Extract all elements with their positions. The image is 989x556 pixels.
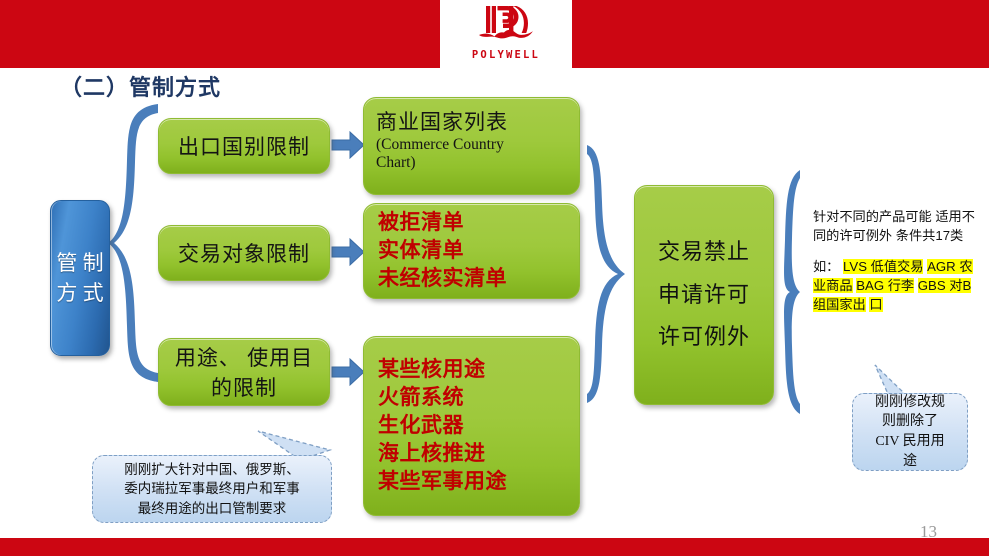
root-label-char-2: 方 [56,281,77,305]
detail-3-line-1: 某些核用途 [378,356,486,384]
root-label-char-0: 管 [56,251,77,275]
detail-3-line-4: 海上核推进 [378,440,486,468]
callout-right-tail [875,365,905,394]
root-node[interactable]: 管 制 方 式 [50,200,110,356]
category-box-3[interactable]: 用途、 使用目 的限制 [158,338,330,406]
brand-logo: POLYWELL [440,2,572,74]
callout-right-line-3: CIV 民用用 [875,432,944,452]
detail-2-line-2: 实体清单 [378,237,464,265]
side-note-intro-3: 条件共17类 [896,228,963,243]
root-label-char-1: 制 [83,251,104,275]
page-title: （二）管制方式 [60,70,221,102]
detail-box-2[interactable]: 被拒清单 实体清单 未经核实清单 [363,203,580,299]
callout-right[interactable]: 刚刚修改规 则删除了 CIV 民用用 途 [852,393,968,471]
callout-right-line-2: 则删除了 [882,412,938,432]
side-note: 针对不同的产品可能 适用不同的许可例外 条件共17类 如： LVS 低值交易 A… [813,207,983,314]
brand-wordmark: POLYWELL [472,49,540,61]
detail-3-line-3: 生化武器 [378,412,464,440]
side-note-spacer [813,246,983,257]
arrow-right-icon-1 [332,132,364,158]
detail-3-line-5: 某些军事用途 [378,468,507,496]
category-label-2: 交易对象限制 [178,238,310,268]
root-node-label: 管 制 方 式 [51,248,109,308]
outcome-line-1: 交易禁止 [658,231,750,274]
callout-right-line-4: 途 [903,452,917,472]
detail-1-cn: 商业国家列表 [376,106,508,136]
callout-left[interactable]: 刚刚扩大针对中国、俄罗斯、 委内瑞拉军事最终用户和军事 最终用途的出口管制要求 [92,455,332,523]
callout-right-line-1: 刚刚修改规 [875,393,945,413]
side-note-item-1: LVS 低值交易 [843,259,923,274]
footer-band [0,538,989,556]
side-note-example-label: 如： [813,259,839,274]
polywell-logo-icon [476,2,536,48]
detail-2-line-3: 未经核实清单 [378,265,507,293]
category-label-1: 出口国别限制 [178,131,310,161]
category-box-2[interactable]: 交易对象限制 [158,225,330,281]
callout-left-line-3: 最终用途的出口管制要求 [138,499,287,518]
side-note-intro-1: 针对不同的产品可能 [813,209,932,224]
side-note-item-3: BAG 行李 [856,278,914,293]
arrow-right-icon-3 [332,359,364,385]
detail-1-en-line-1: (Commerce Country [376,136,504,154]
brace-right-icon [784,170,800,414]
detail-3-line-2: 火箭系统 [378,384,464,412]
outcome-line-3: 许可例外 [658,316,750,359]
callout-left-line-2: 委内瑞拉军事最终用户和军事 [124,479,300,498]
detail-1-en-line-2: Chart) [376,154,416,172]
category-box-1[interactable]: 出口国别限制 [158,118,330,174]
arrow-icons [332,132,364,385]
arrow-right-icon-2 [332,239,364,265]
outcome-line-2: 申请许可 [658,274,750,317]
slide-canvas: POLYWELL （二）管制方式 管 制 方 式 出口国别限制 [0,0,989,556]
callout-left-line-1: 刚刚扩大针对中国、俄罗斯、 [124,460,300,479]
root-label-char-3: 式 [83,281,104,305]
side-note-item-5: 口 [869,297,882,312]
outcome-box[interactable]: 交易禁止 申请许可 许可例外 [634,185,774,405]
category-label-3-line-1: 用途、 使用目 [175,342,313,372]
category-label-3-line-2: 的限制 [211,372,277,402]
detail-box-1[interactable]: 商业国家列表 (Commerce Country Chart) [363,97,580,195]
detail-2-line-1: 被拒清单 [378,209,464,237]
detail-box-3[interactable]: 某些核用途 火箭系统 生化武器 海上核推进 某些军事用途 [363,336,580,516]
brace-left-icon [108,104,158,382]
brace-middle-icon [587,145,625,403]
